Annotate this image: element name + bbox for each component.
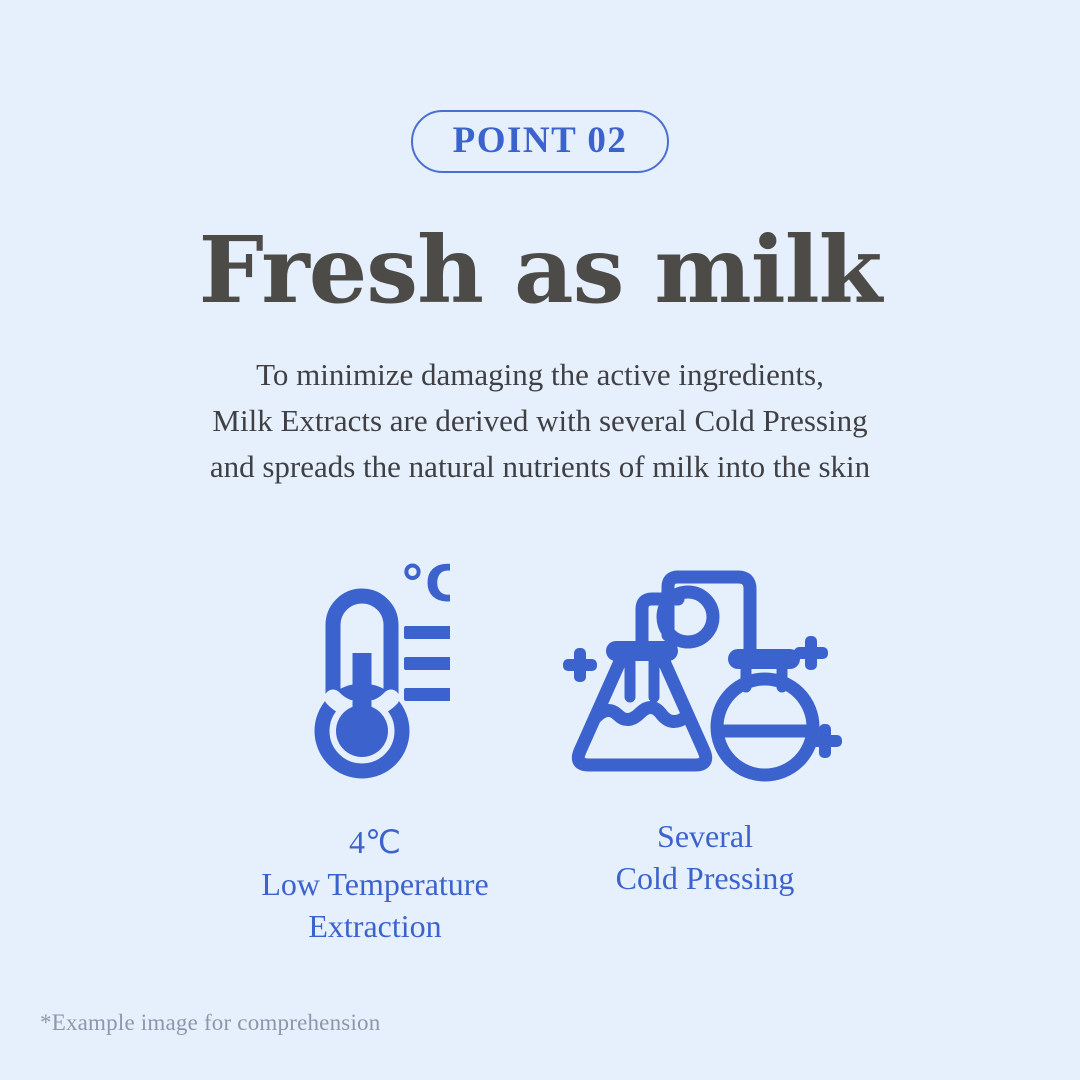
conical-flask-liquid <box>596 707 686 721</box>
body-line-3: and spreads the natural nutrients of mil… <box>0 444 1080 490</box>
flasks-icon <box>560 547 850 792</box>
thermometer-icon-box: °C <box>300 545 450 803</box>
caption-line-2: Low Temperature <box>261 863 488 905</box>
flasks-icon-box <box>560 545 850 797</box>
point-badge: POINT 02 <box>411 110 670 173</box>
caption-line-2: Cold Pressing <box>616 857 795 899</box>
feature-row: °C 4℃ Low Temperature Extraction <box>0 545 1080 947</box>
conical-flask-neck-lines <box>630 659 654 697</box>
thermometer-icon: °C <box>300 553 450 788</box>
caption-line-1: 4℃ <box>261 821 488 863</box>
caption-line-3: Extraction <box>261 905 488 947</box>
footnote-text: *Example image for comprehension <box>40 1010 380 1036</box>
body-paragraph: To minimize damaging the active ingredie… <box>0 352 1080 490</box>
promo-card: POINT 02 Fresh as milk To minimize damag… <box>0 0 1080 1080</box>
thermometer-ticks <box>404 626 450 701</box>
feature-cold-pressing: Several Cold Pressing <box>540 545 870 899</box>
thermometer-bulb <box>336 705 388 757</box>
caption-line-1: Several <box>616 815 795 857</box>
plus-icon-top-right <box>794 636 828 670</box>
badge-container: POINT 02 <box>0 110 1080 173</box>
degree-celsius-icon: °C <box>400 555 450 613</box>
body-line-2: Milk Extracts are derived with several C… <box>0 398 1080 444</box>
body-line-1: To minimize damaging the active ingredie… <box>0 352 1080 398</box>
feature-caption-low-temperature: 4℃ Low Temperature Extraction <box>261 821 488 947</box>
feature-low-temperature: °C 4℃ Low Temperature Extraction <box>210 545 540 947</box>
feature-caption-cold-pressing: Several Cold Pressing <box>616 815 795 899</box>
plus-icon-left <box>563 648 597 682</box>
page-title: Fresh as milk <box>0 222 1080 319</box>
